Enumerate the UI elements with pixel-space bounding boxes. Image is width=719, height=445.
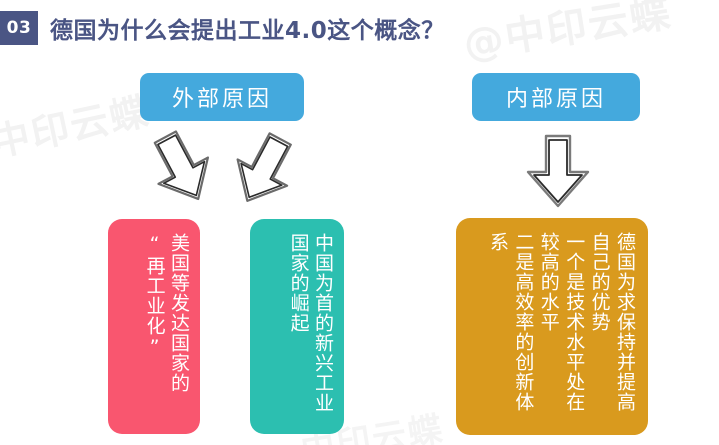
cause-text-column: 较高的水平 (537, 232, 559, 332)
category-external-causes[interactable]: 外部原因 (140, 73, 304, 121)
cause-text-column: 二是高效率的创新体 (512, 232, 534, 412)
cause-card-germany[interactable]: 德国为求保持并提高 自己的优势 一个是技术水平处在 较高的水平 二是高效率的创新… (456, 218, 648, 435)
category-external-label: 外部原因 (172, 81, 272, 113)
down-arrow-icon (516, 132, 600, 210)
cause-text-column: 系 (487, 232, 509, 252)
page-title: 德国为什么会提出工业4.0这个概念？ (50, 11, 445, 45)
cause-text-column: 一个是技术水平处在 (563, 232, 585, 412)
cause-text-column: 美国等发达国家的 (168, 233, 190, 393)
step-number-badge: 03 (0, 11, 38, 45)
watermark-top-right: @中印云蝶 (459, 0, 675, 70)
cause-text-column: 中国为首的新兴工业 (312, 233, 334, 413)
down-right-arrow-icon (222, 128, 302, 210)
category-internal-causes[interactable]: 内部原因 (472, 73, 640, 121)
cause-card-china[interactable]: 中国为首的新兴工业 国家的崛起 (250, 219, 344, 434)
cause-text-column: 自己的优势 (588, 232, 610, 332)
slide-header: 03 德国为什么会提出工业4.0这个概念？ (0, 10, 445, 46)
cause-text-column: 国家的崛起 (287, 233, 309, 333)
cause-text-column: 德国为求保持并提高 (614, 232, 636, 412)
down-left-arrow-icon (140, 128, 220, 210)
category-internal-label: 内部原因 (506, 81, 606, 113)
cause-card-usa[interactable]: 美国等发达国家的 “再工业化” (108, 219, 200, 434)
watermark-left: 中印云蝶 (0, 80, 154, 167)
cause-text-column: “再工业化” (143, 233, 165, 359)
slide-canvas: @中印云蝶 中印云蝶 中印云蝶 03 德国为什么会提出工业4.0这个概念？ 外部… (0, 0, 719, 445)
